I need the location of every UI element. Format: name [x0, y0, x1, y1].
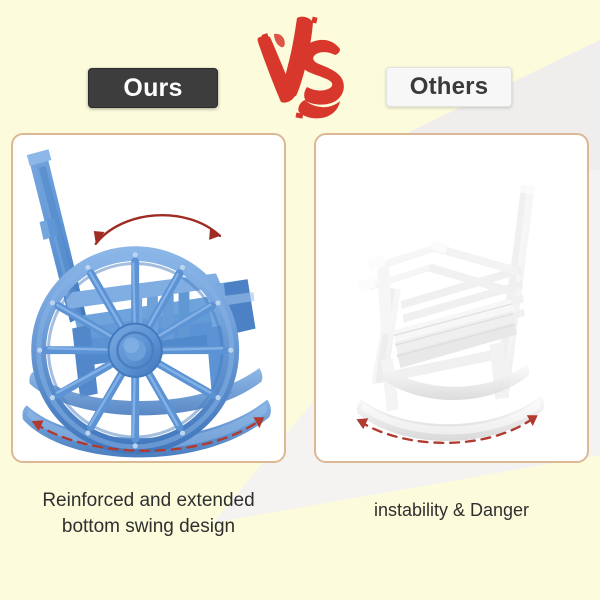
caption-others: instability & Danger — [314, 497, 589, 523]
standard-rocking-chair-illustration — [316, 135, 587, 461]
wagon-wheel — [37, 252, 233, 448]
header: Ours Others — [0, 0, 600, 128]
caption-ours-line-2: bottom swing design — [6, 514, 291, 540]
comparison-infographic: Ours Others — [0, 0, 600, 600]
panel-ours — [11, 133, 286, 463]
badge-others[interactable]: Others — [386, 67, 512, 107]
vs-mark-icon — [252, 8, 348, 126]
panel-others — [314, 133, 589, 463]
badge-others-label: Others — [410, 73, 489, 101]
wagon-wheel-rocking-chair-illustration — [13, 135, 284, 461]
caption-ours: Reinforced and extended bottom swing des… — [6, 488, 291, 540]
badge-ours[interactable]: Ours — [88, 68, 218, 108]
caption-ours-line-1: Reinforced and extended — [6, 488, 291, 514]
caption-others-line-1: instability & Danger — [314, 497, 589, 523]
badge-ours-label: Ours — [123, 74, 182, 103]
rocking-motion-arrow — [94, 215, 220, 244]
